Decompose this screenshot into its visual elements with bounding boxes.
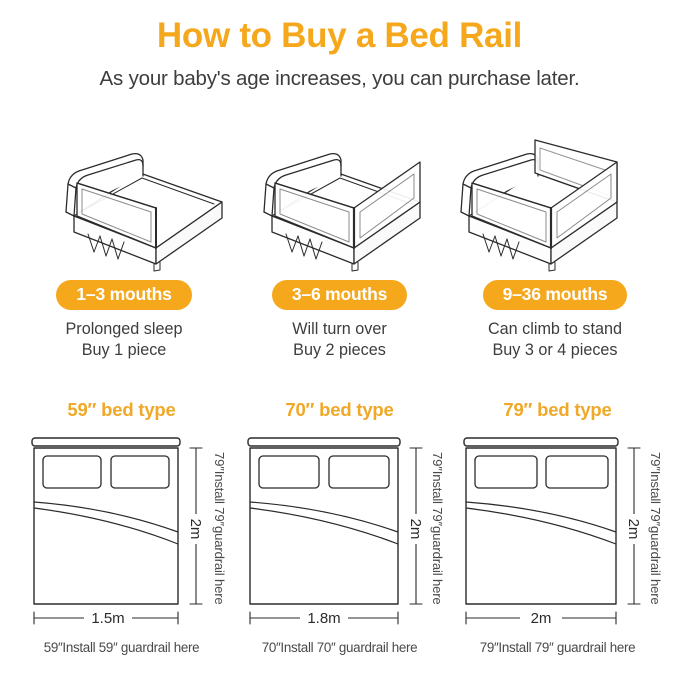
bed-illustration-1-rail	[44, 128, 240, 273]
bed-illustration-2-rails	[242, 128, 438, 273]
stage-2-caption: Will turn over Buy 2 pieces	[242, 319, 438, 361]
bed-illustration-row	[0, 128, 679, 273]
bed-type-2-figure: 2m 1.8m 79″Install 79″guardrail here	[234, 426, 445, 631]
stage-3-caption-line1: Can climb to stand	[457, 319, 653, 340]
bed-type-3-footnote: 79″Install 79″ guardrail here	[452, 640, 663, 655]
bed-type-2: 70″ bed type 2m	[234, 398, 445, 631]
stage-1: 1–3 mouths Prolonged sleep Buy 1 piece	[26, 280, 222, 361]
stage-1-caption-line1: Prolonged sleep	[26, 319, 222, 340]
bed-type-1-footnote: 59″Install 59″ guardrail here	[16, 640, 227, 655]
stage-3-caption-line2: Buy 3 or 4 pieces	[457, 340, 653, 361]
bed-type-1-side-note: 79″Install 79″guardrail here	[212, 452, 226, 605]
bed-type-1-figure: 2m 1.5m 79″Install 79″guardrail here	[16, 426, 227, 631]
bed-type-3-width-label: 2m	[531, 610, 552, 627]
bed-plan-2-icon: 2m 1.8m	[234, 426, 445, 631]
stage-3-badge[interactable]: 9–36 mouths	[483, 280, 628, 310]
bed-plan-3-icon: 2m 2m	[452, 426, 663, 631]
stage-2-badge[interactable]: 3–6 mouths	[272, 280, 407, 310]
page-title: How to Buy a Bed Rail	[0, 14, 679, 58]
bed-1-rail-icon	[44, 128, 240, 273]
stage-2: 3–6 mouths Will turn over Buy 2 pieces	[242, 280, 438, 361]
header: How to Buy a Bed Rail As your baby's age…	[0, 14, 679, 94]
stage-2-caption-line1: Will turn over	[242, 319, 438, 340]
bed-type-3-figure: 2m 2m 79″Install 79″guardrail here	[452, 426, 663, 631]
bed-type-1-title: 59″ bed type	[16, 398, 227, 424]
stage-row: 1–3 mouths Prolonged sleep Buy 1 piece 3…	[0, 280, 679, 361]
stage-1-caption: Prolonged sleep Buy 1 piece	[26, 319, 222, 361]
page-subtitle: As your baby's age increases, you can pu…	[0, 64, 679, 94]
bed-type-2-title: 70″ bed type	[234, 398, 445, 424]
bed-plan-1-icon: 2m 1.5m	[16, 426, 227, 631]
stage-1-caption-line2: Buy 1 piece	[26, 340, 222, 361]
bed-type-3-height-label: 2m	[625, 519, 642, 540]
footnote-row: 59″Install 59″ guardrail here 70″Install…	[0, 640, 679, 655]
bed-illustration-3-rails	[439, 128, 635, 273]
stage-3-caption: Can climb to stand Buy 3 or 4 pieces	[457, 319, 653, 361]
infographic-page: How to Buy a Bed Rail As your baby's age…	[0, 0, 679, 679]
stage-2-caption-line2: Buy 2 pieces	[242, 340, 438, 361]
bed-type-1-height-label: 2m	[187, 519, 204, 540]
bed-type-3: 79″ bed type 2m	[452, 398, 663, 631]
bed-type-2-height-label: 2m	[407, 519, 424, 540]
bed-type-1-width-label: 1.5m	[91, 610, 124, 627]
bed-2-rails-icon	[242, 128, 438, 273]
bed-type-3-side-note: 79″Install 79″guardrail here	[648, 452, 662, 605]
stage-3: 9–36 mouths Can climb to stand Buy 3 or …	[457, 280, 653, 361]
bed-type-2-width-label: 1.8m	[307, 610, 340, 627]
bed-type-2-footnote: 70″Install 70″ guardrail here	[234, 640, 445, 655]
stage-1-badge[interactable]: 1–3 mouths	[56, 280, 191, 310]
bed-type-2-side-note: 79″Install 79″guardrail here	[430, 452, 444, 605]
bed-type-1: 59″ bed type	[16, 398, 227, 631]
bed-3-rails-icon	[439, 128, 635, 273]
bed-type-row: 59″ bed type	[0, 398, 679, 631]
bed-type-3-title: 79″ bed type	[452, 398, 663, 424]
